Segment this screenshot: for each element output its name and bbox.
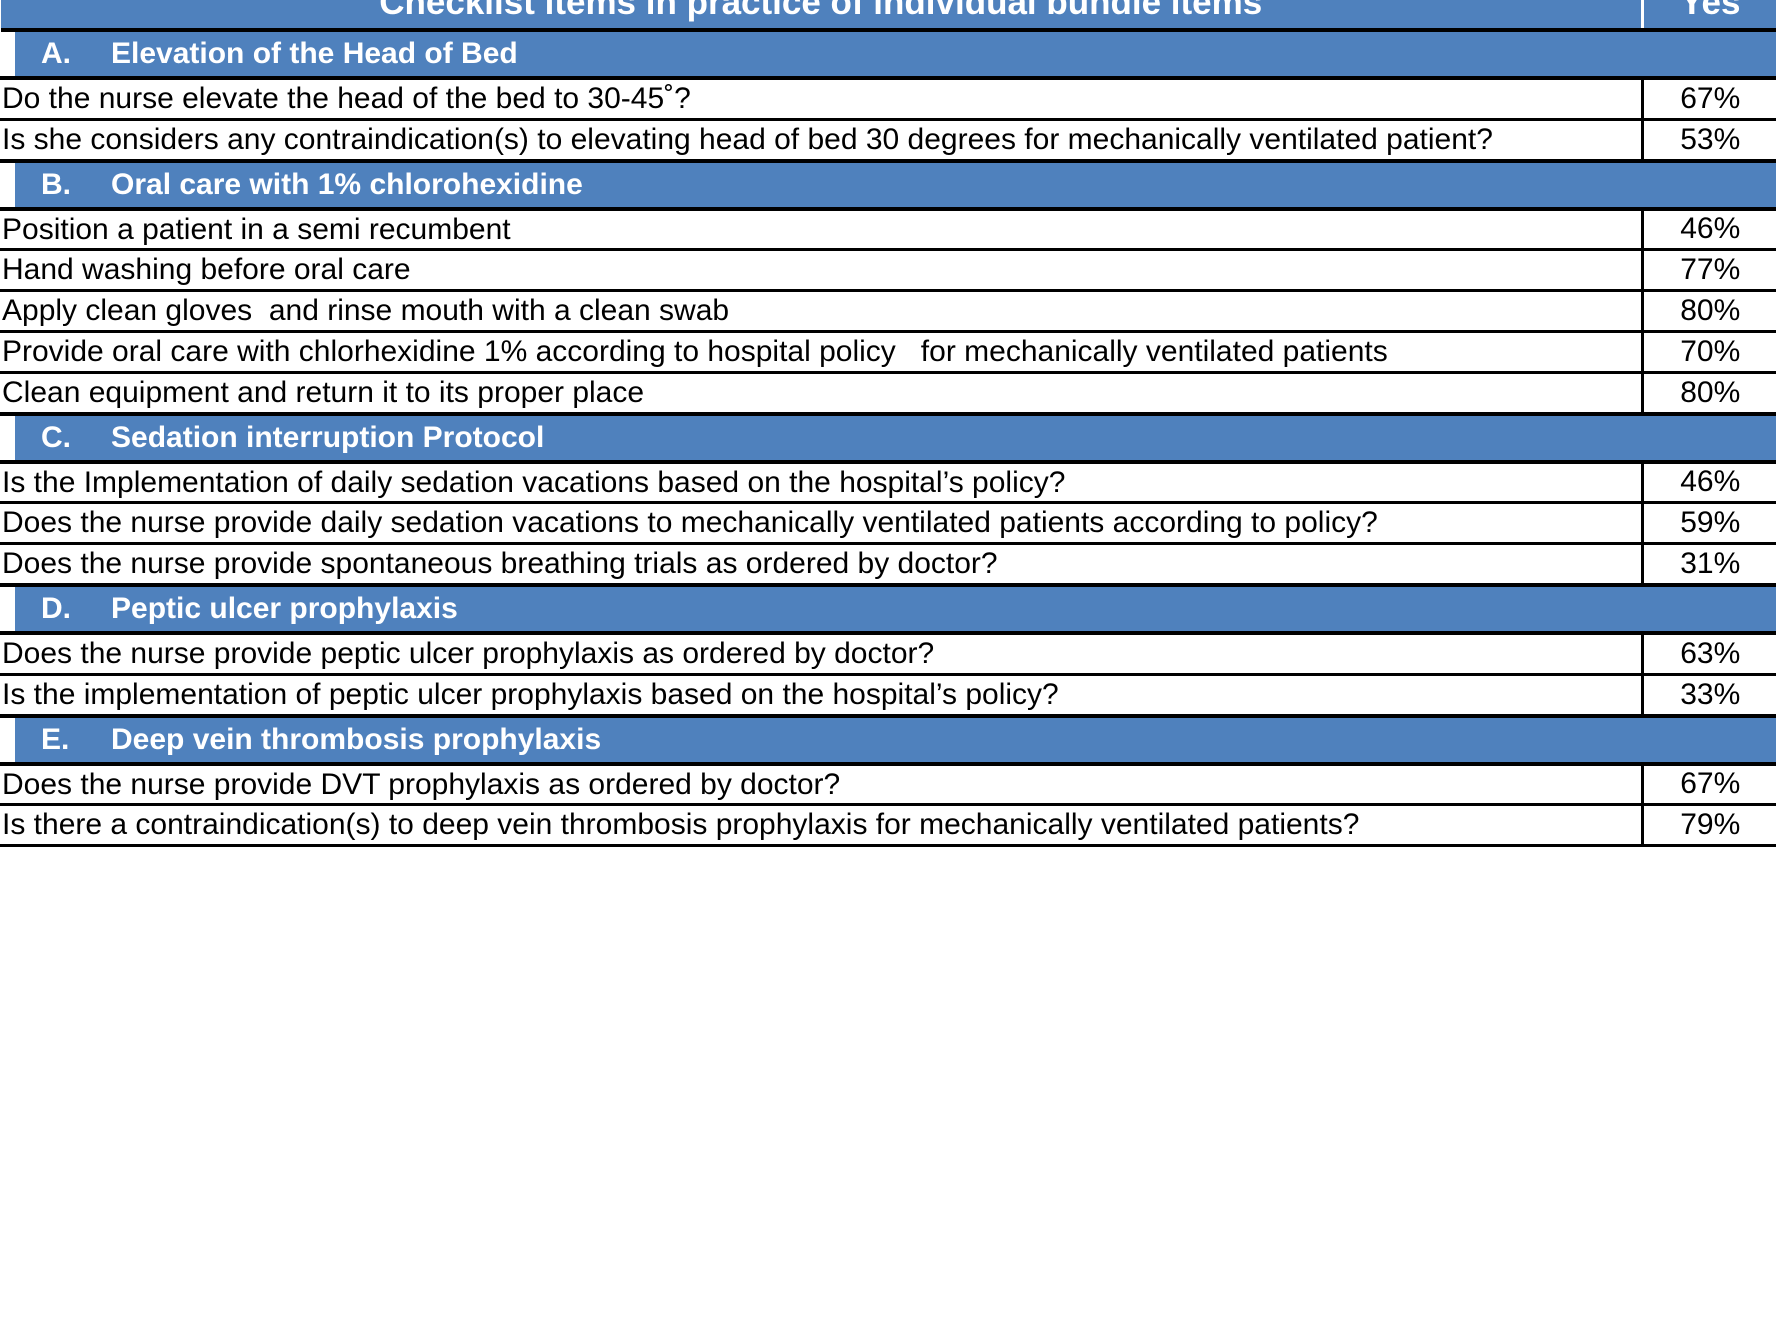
checklist-item-yes-value: 67% bbox=[1642, 78, 1776, 119]
table-row: Clean equipment and return it to its pro… bbox=[1, 372, 1776, 413]
section-header-cell-a: A.Elevation of the Head of Bed bbox=[1, 30, 1642, 78]
table-row: Does the nurse provide daily sedation va… bbox=[1, 503, 1776, 544]
section-bar-b: B.Oral care with 1% chlorohexidine bbox=[15, 163, 1642, 207]
section-letter-b: B. bbox=[41, 163, 111, 207]
section-header-yes-c bbox=[1642, 414, 1776, 462]
section-header-cell-d: D.Peptic ulcer prophylaxis bbox=[1, 585, 1642, 633]
checklist-item-yes-value: 67% bbox=[1642, 764, 1776, 805]
section-letter-e: E. bbox=[41, 718, 111, 762]
section-header-yes-e bbox=[1642, 716, 1776, 764]
checklist-item-yes-value: 46% bbox=[1642, 209, 1776, 250]
section-title-e: Deep vein thrombosis prophylaxis bbox=[111, 723, 601, 756]
table-row: Is there a contraindication(s) to deep v… bbox=[1, 805, 1776, 846]
checklist-item-label: Hand washing before oral care bbox=[1, 250, 1642, 291]
checklist-table-container: Checklist items in practice of individua… bbox=[0, 0, 1776, 1323]
column-header-items: Checklist items in practice of individua… bbox=[1, 0, 1642, 30]
table-row: Position a patient in a semi recumbent 4… bbox=[1, 209, 1776, 250]
checklist-item-label: Clean equipment and return it to its pro… bbox=[1, 372, 1642, 413]
checklist-item-label: Does the nurse provide daily sedation va… bbox=[1, 503, 1642, 544]
checklist-item-label: Is the Implementation of daily sedation … bbox=[1, 462, 1642, 503]
section-header-yes-a bbox=[1642, 30, 1776, 78]
section-header-row: C.Sedation interruption Protocol bbox=[1, 414, 1776, 462]
table-row: Does the nurse provide spontaneous breat… bbox=[1, 544, 1776, 585]
checklist-item-label: Does the nurse provide DVT prophylaxis a… bbox=[1, 764, 1642, 805]
checklist-item-label: Does the nurse provide spontaneous breat… bbox=[1, 544, 1642, 585]
checklist-item-yes-value: 46% bbox=[1642, 462, 1776, 503]
section-letter-d: D. bbox=[41, 587, 111, 631]
checklist-item-label: Does the nurse provide peptic ulcer prop… bbox=[1, 633, 1642, 674]
column-header-yes-label: Yes bbox=[1644, 0, 1776, 28]
table-row: Is the implementation of peptic ulcer pr… bbox=[1, 674, 1776, 715]
checklist-item-yes-value: 70% bbox=[1642, 331, 1776, 372]
column-header-items-label: Checklist items in practice of individua… bbox=[1, 0, 1641, 28]
section-header-row: A.Elevation of the Head of Bed bbox=[1, 30, 1776, 78]
checklist-item-label: Is she considers any contraindication(s)… bbox=[1, 119, 1642, 160]
table-row: Provide oral care with chlorhexidine 1% … bbox=[1, 331, 1776, 372]
checklist-item-yes-value: 53% bbox=[1642, 119, 1776, 160]
checklist-item-label: Position a patient in a semi recumbent bbox=[1, 209, 1642, 250]
checklist-item-label: Is the implementation of peptic ulcer pr… bbox=[1, 674, 1642, 715]
section-header-cell-b: B.Oral care with 1% chlorohexidine bbox=[1, 161, 1642, 209]
section-bar-d: D.Peptic ulcer prophylaxis bbox=[15, 587, 1642, 631]
checklist-item-label: Do the nurse elevate the head of the bed… bbox=[1, 78, 1642, 119]
section-letter-c: C. bbox=[41, 416, 111, 460]
section-header-row: E.Deep vein thrombosis prophylaxis bbox=[1, 716, 1776, 764]
table-row: Apply clean gloves and rinse mouth with … bbox=[1, 291, 1776, 332]
section-header-row: D.Peptic ulcer prophylaxis bbox=[1, 585, 1776, 633]
checklist-item-yes-value: 63% bbox=[1642, 633, 1776, 674]
table-header-row: Checklist items in practice of individua… bbox=[1, 0, 1776, 30]
section-header-cell-e: E.Deep vein thrombosis prophylaxis bbox=[1, 716, 1642, 764]
table-row: Does the nurse provide DVT prophylaxis a… bbox=[1, 764, 1776, 805]
section-bar-e: E.Deep vein thrombosis prophylaxis bbox=[15, 718, 1642, 762]
section-bar-a: A.Elevation of the Head of Bed bbox=[15, 32, 1642, 76]
section-title-b: Oral care with 1% chlorohexidine bbox=[111, 168, 583, 201]
table-row: Is the Implementation of daily sedation … bbox=[1, 462, 1776, 503]
section-letter-a: A. bbox=[41, 32, 111, 76]
column-header-yes: Yes bbox=[1642, 0, 1776, 30]
checklist-item-yes-value: 59% bbox=[1642, 503, 1776, 544]
table-body: Checklist items in practice of individua… bbox=[1, 0, 1776, 846]
table-row: Hand washing before oral care 77% bbox=[1, 250, 1776, 291]
section-header-yes-d bbox=[1642, 585, 1776, 633]
section-title-d: Peptic ulcer prophylaxis bbox=[111, 592, 458, 625]
checklist-item-label: Provide oral care with chlorhexidine 1% … bbox=[1, 331, 1642, 372]
checklist-item-label: Apply clean gloves and rinse mouth with … bbox=[1, 291, 1642, 332]
checklist-item-yes-value: 80% bbox=[1642, 291, 1776, 332]
checklist-item-yes-value: 77% bbox=[1642, 250, 1776, 291]
checklist-item-yes-value: 79% bbox=[1642, 805, 1776, 846]
section-title-a: Elevation of the Head of Bed bbox=[111, 37, 518, 70]
checklist-item-yes-value: 31% bbox=[1642, 544, 1776, 585]
checklist-item-yes-value: 33% bbox=[1642, 674, 1776, 715]
checklist-item-yes-value: 80% bbox=[1642, 372, 1776, 413]
table-row: Is she considers any contraindication(s)… bbox=[1, 119, 1776, 160]
section-title-c: Sedation interruption Protocol bbox=[111, 421, 544, 454]
table-row: Do the nurse elevate the head of the bed… bbox=[1, 78, 1776, 119]
section-bar-c: C.Sedation interruption Protocol bbox=[15, 416, 1642, 460]
section-header-row: B.Oral care with 1% chlorohexidine bbox=[1, 161, 1776, 209]
bundle-checklist-table: Checklist items in practice of individua… bbox=[0, 0, 1776, 847]
section-header-yes-b bbox=[1642, 161, 1776, 209]
checklist-item-label: Is there a contraindication(s) to deep v… bbox=[1, 805, 1642, 846]
section-header-cell-c: C.Sedation interruption Protocol bbox=[1, 414, 1642, 462]
table-row: Does the nurse provide peptic ulcer prop… bbox=[1, 633, 1776, 674]
